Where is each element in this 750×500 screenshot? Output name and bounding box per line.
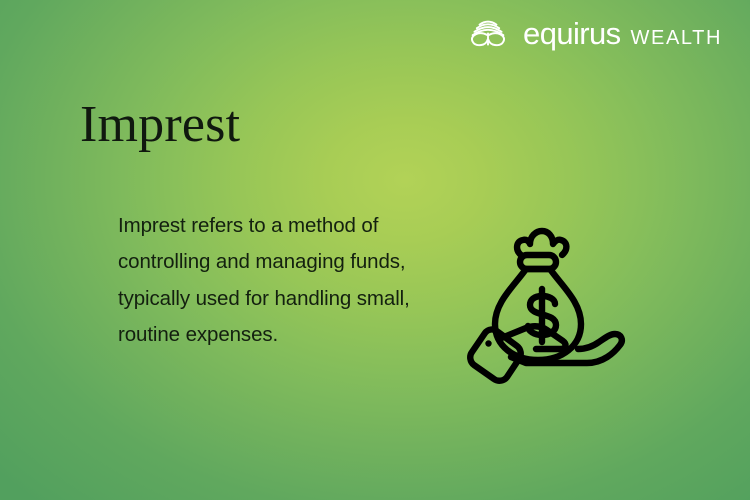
brand-name: equirus — [523, 18, 620, 49]
definition-card: equirus WEALTH Imprest Imprest refers to… — [0, 0, 750, 500]
brand-subname: WEALTH — [631, 28, 722, 48]
brand-lockup: equirus WEALTH — [466, 13, 722, 53]
definition-text: Imprest refers to a method of controllin… — [118, 208, 463, 354]
equirus-banyan-tree-logo-icon — [466, 11, 510, 56]
brand-wordmark: equirus WEALTH — [523, 18, 722, 49]
page-title: Imprest — [80, 96, 240, 153]
hand-holding-money-bag-icon — [462, 222, 642, 402]
